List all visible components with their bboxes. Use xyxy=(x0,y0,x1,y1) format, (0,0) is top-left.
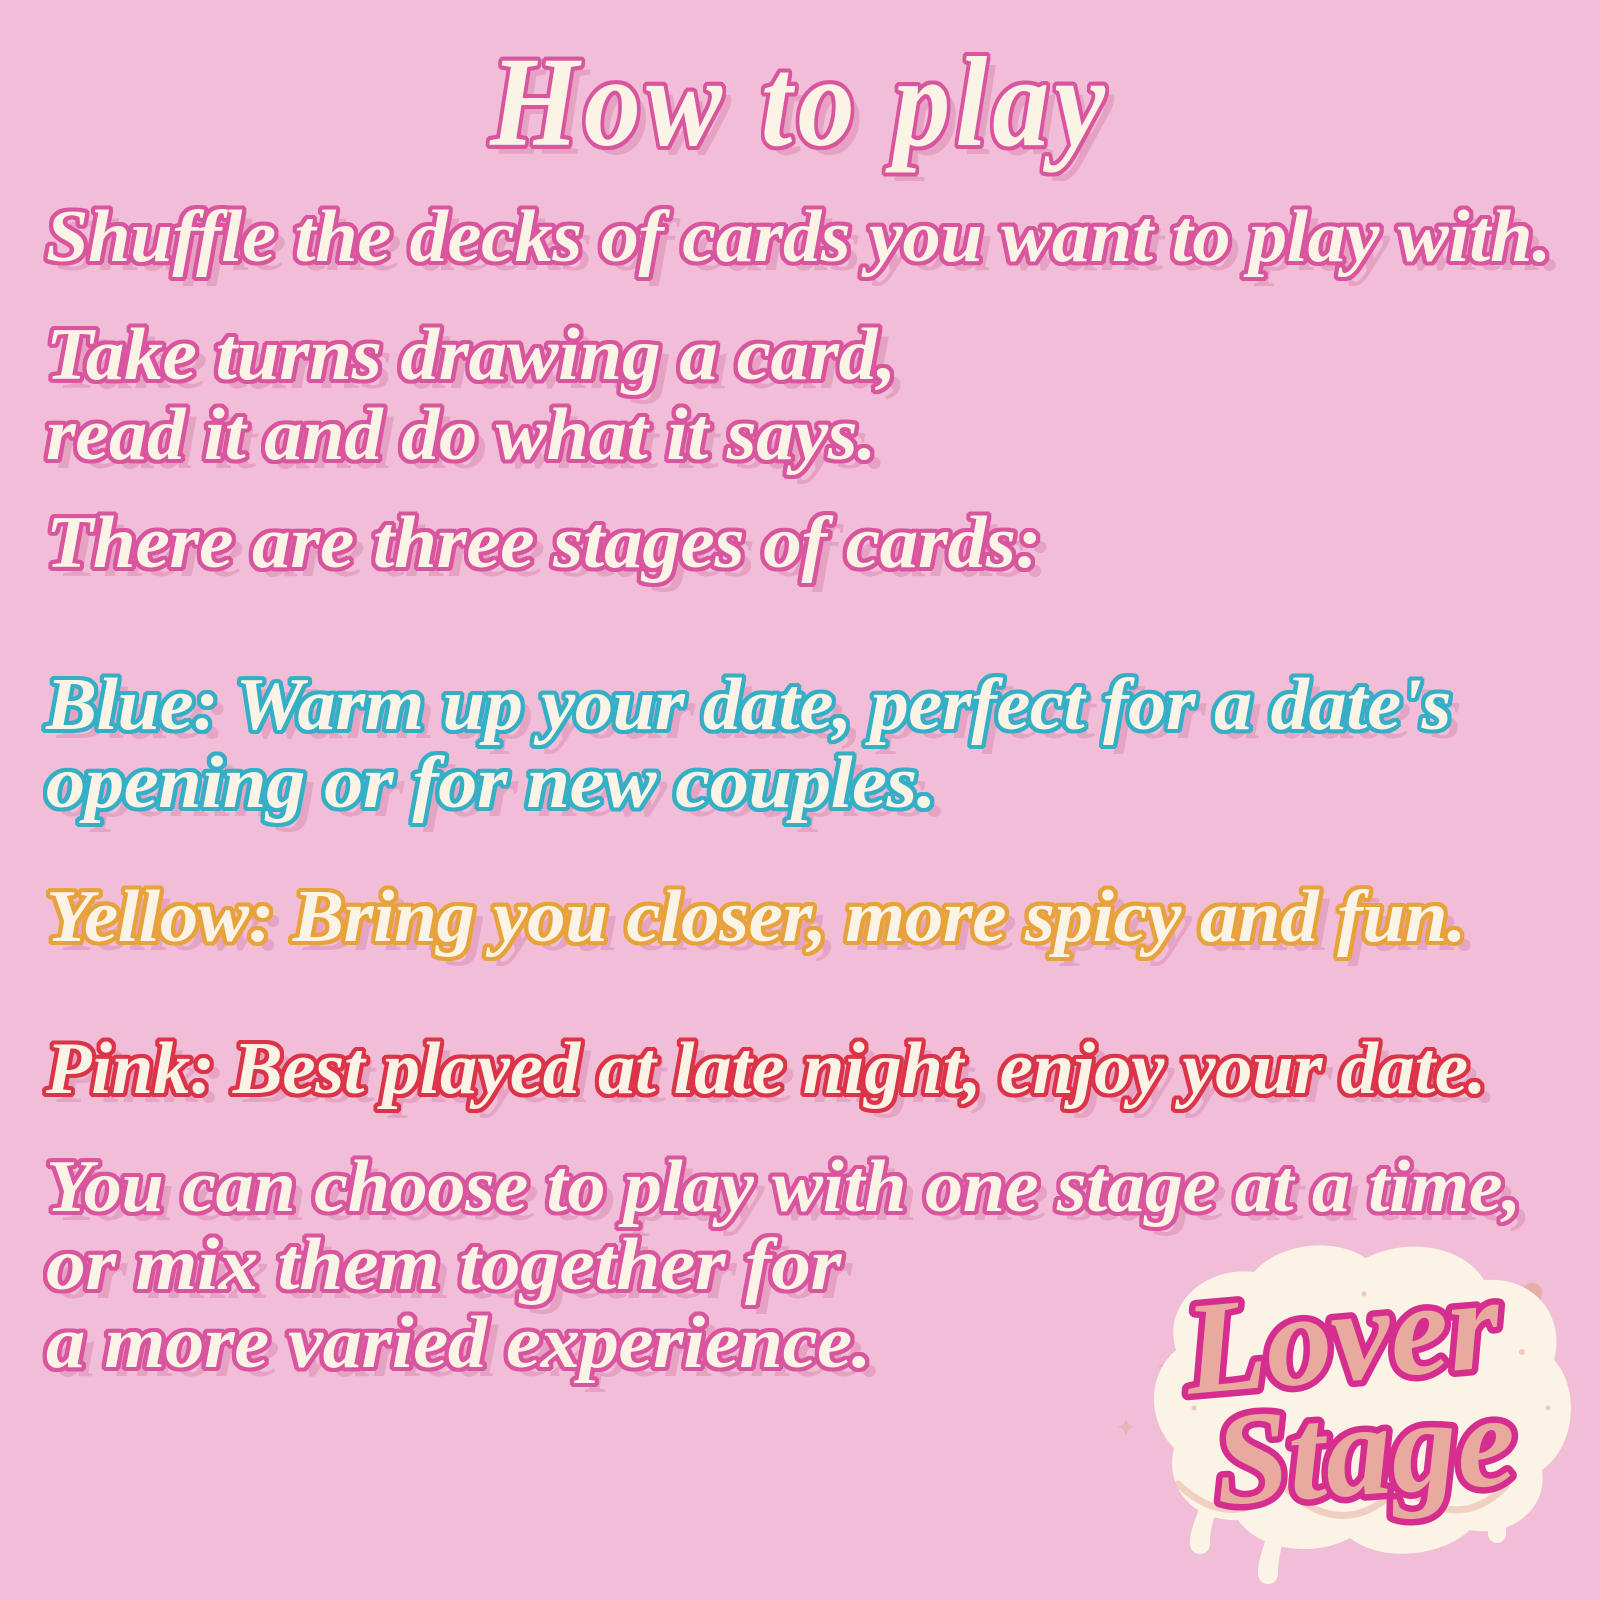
page-title: How to play xyxy=(0,38,1600,166)
lover-stage-logo: Lover Stage xyxy=(1118,1232,1588,1592)
page-title-text: How to play xyxy=(490,38,1110,166)
logo-word-stage: Stage xyxy=(1210,1366,1520,1534)
poster-canvas: How to play Shuffle the decks of cards y… xyxy=(0,0,1600,1600)
instruction-line-shuffle: Shuffle the decks of cards you want to p… xyxy=(46,200,1551,274)
instruction-line-take-turns-2: read it and do what it says. xyxy=(46,398,876,472)
stage-yellow-line-1: Yellow: Bring you closer, more spicy and… xyxy=(46,880,1466,954)
stage-blue-line-1: Blue: Warm up your date, perfect for a d… xyxy=(46,668,1451,742)
closing-line-3: a more varied experience. xyxy=(46,1306,871,1380)
closing-line-1: You can choose to play with one stage at… xyxy=(46,1150,1521,1224)
instruction-line-three-stages: There are three stages of cards: xyxy=(46,506,1041,580)
instruction-line-take-turns-1: Take turns drawing a card, xyxy=(46,318,896,392)
closing-line-2: or mix them together for xyxy=(46,1228,841,1302)
stage-blue-line-2: opening or for new couples. xyxy=(46,746,936,820)
stage-pink-line-1: Pink: Best played at late night, enjoy y… xyxy=(46,1032,1486,1106)
